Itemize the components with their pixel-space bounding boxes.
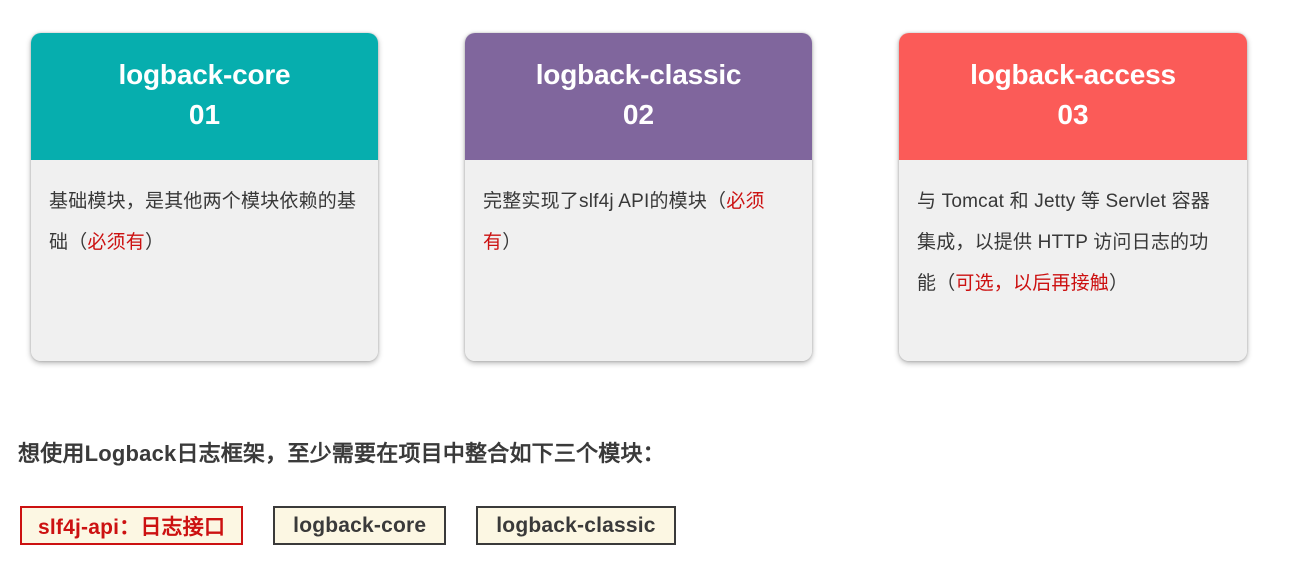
card-body-logback-classic: 完整实现了slf4j API的模块（必须有） [465,160,812,361]
tag-logback-core: logback-core [273,506,446,545]
tag-slf4j-api: slf4j-api：日志接口 [20,506,243,545]
card-logback-access: logback-access 03 与 Tomcat 和 Jetty 等 Ser… [899,33,1247,361]
card-description-before: 完整实现了slf4j API的模块（ [483,191,726,212]
card-description-highlight: 可选，以后再接触 [955,273,1109,294]
card-header-logback-core: logback-core 01 [31,33,378,160]
module-tags-row: slf4j-api：日志接口 logback-core logback-clas… [20,506,676,545]
card-number: 03 [1057,95,1088,135]
card-title: logback-access [970,55,1176,95]
tag-logback-classic: logback-classic [476,506,675,545]
card-number: 01 [189,95,220,135]
card-body-logback-access: 与 Tomcat 和 Jetty 等 Servlet 容器集成，以提供 HTTP… [899,160,1247,361]
card-title: logback-core [119,55,291,95]
card-body-logback-core: 基础模块，是其他两个模块依赖的基础（必须有） [31,160,378,361]
card-description-after: ） [502,232,521,253]
module-cards-row: logback-core 01 基础模块，是其他两个模块依赖的基础（必须有） l… [31,33,1276,363]
card-description: 完整实现了slf4j API的模块（必须有） [483,182,792,264]
card-description-after: ） [145,232,164,253]
section-heading: 想使用Logback日志框架，至少需要在项目中整合如下三个模块： [18,436,665,468]
card-header-logback-classic: logback-classic 02 [465,33,812,160]
card-number: 02 [623,95,654,135]
card-logback-classic: logback-classic 02 完整实现了slf4j API的模块（必须有… [465,33,812,361]
card-description-highlight: 必须有 [87,232,145,253]
card-description-after: ） [1109,273,1128,294]
card-header-logback-access: logback-access 03 [899,33,1247,160]
card-logback-core: logback-core 01 基础模块，是其他两个模块依赖的基础（必须有） [31,33,378,361]
card-description: 与 Tomcat 和 Jetty 等 Servlet 容器集成，以提供 HTTP… [917,182,1227,305]
card-title: logback-classic [536,55,742,95]
card-description: 基础模块，是其他两个模块依赖的基础（必须有） [49,182,358,264]
